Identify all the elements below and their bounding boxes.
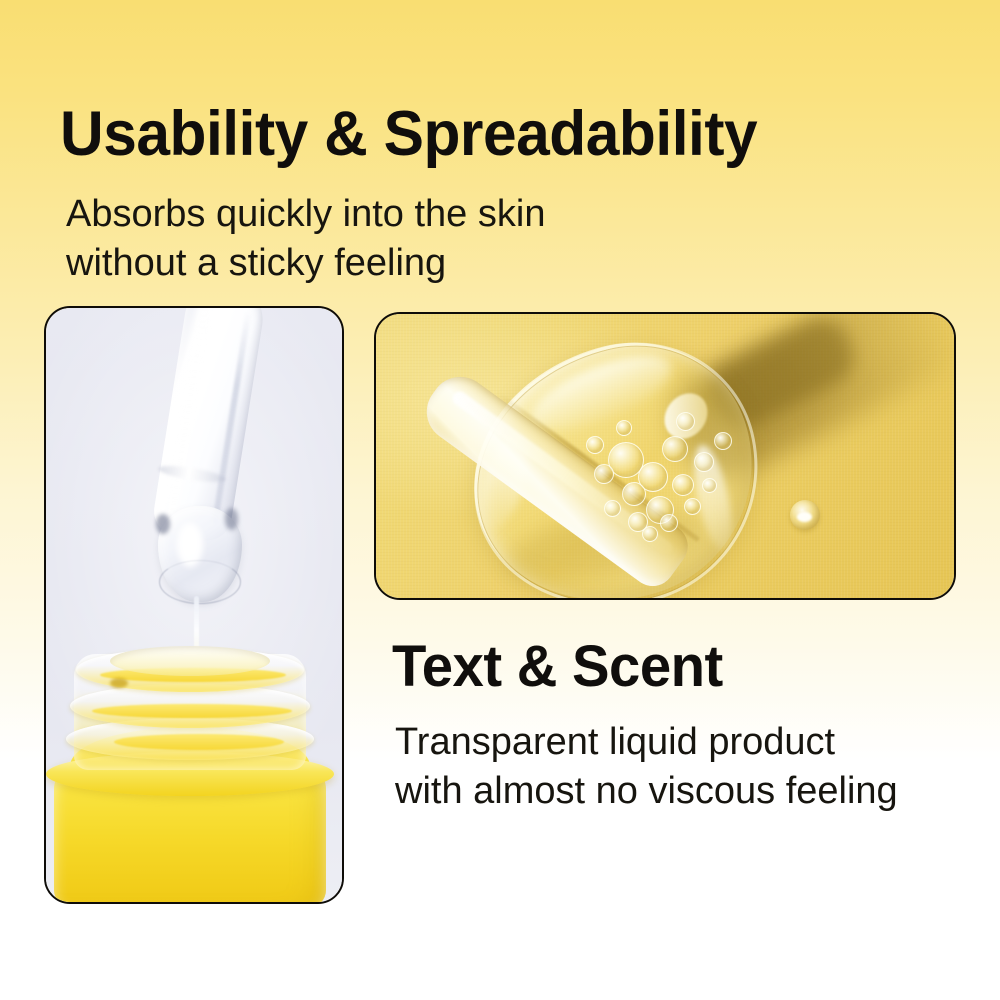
bubble-icon [586,436,604,454]
bubble-icon [672,474,694,496]
bubble-icon [702,478,717,493]
bubble-icon [594,464,614,484]
bubble-icon [694,452,714,472]
dropper-over-bottle-image [46,308,342,902]
droplet-shade-left-icon [156,514,170,534]
page-title: Usability & Spreadability [60,103,757,166]
bubble-icon [642,526,658,542]
bubble-icon [684,498,701,515]
bottle-sparkle-icon [110,678,128,688]
bubble-icon [662,436,688,462]
product-feature-graphic: Usability & Spreadability Absorbs quickl… [0,0,1000,1000]
bubble-icon [714,432,732,450]
bottle-opening-icon [110,646,270,676]
photo-card-dropper-over-bottle [44,306,344,904]
satellite-droplet-highlight-icon [797,512,812,522]
photo-card-serum-pool [374,312,956,600]
usability-description: Absorbs quickly into the skin without a … [66,190,545,289]
bottle-thread-fill-icon [92,704,292,718]
serum-pool-image [376,314,954,598]
bubble-icon [660,514,678,532]
text-scent-description: Transparent liquid product with almost n… [395,718,898,817]
droplet-shade-right-icon [225,508,238,530]
bottle-thread-fill-icon [114,734,284,750]
bubble-icon [622,482,646,506]
bubble-icon [604,500,621,517]
section-title: Text & Scent [392,638,723,696]
bubble-icon [676,412,695,431]
serum-bottle-icon [44,632,344,902]
droplet-rim-icon [159,560,241,604]
bubble-icon [616,420,632,436]
